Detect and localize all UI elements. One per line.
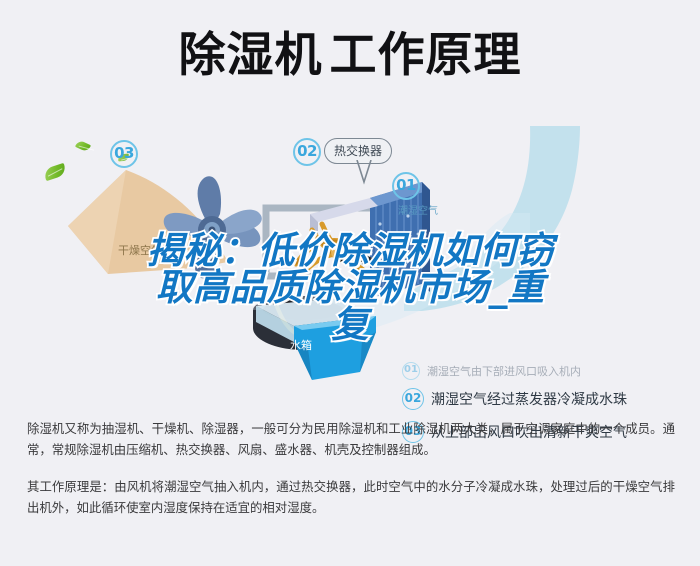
page-title-part1: 除湿机 [179,28,323,83]
diagram-badge-02: 02 [293,138,321,166]
step-item-01: 01 潮湿空气由下部进风口吸入机内 [402,360,698,382]
water-tank-icon [250,296,400,386]
leaf-icon [75,139,91,152]
body-paragraph-2: 其工作原理是：由风机将潮湿空气抽入机内，通过热交换器，此时空气中的水分子冷凝成水… [27,476,675,518]
leaf-icon [43,163,68,181]
dehumidifier-diagram: 干燥空气 [0,118,700,408]
page-title: 除湿机工作原理 [0,28,700,84]
humid-air-label: 潮湿空气 [398,202,438,217]
step-badge-01: 01 [402,362,420,380]
article-page: 除湿机工作原理 干燥空气 [0,0,700,566]
step-badge-02: 02 [402,388,424,410]
page-title-part2: 工作原理 [330,28,522,83]
body-paragraph-1: 除湿机又称为抽湿机、干燥机、除湿器，一般可分为民用除湿机和工业除湿机两大类，属于… [27,418,675,460]
step-text-02: 潮湿空气经过蒸发器冷凝成水珠 [431,389,627,409]
diagram-badge-01: 01 [392,172,420,200]
water-tank-label: 水箱 [290,337,312,353]
humid-air-label-secondary: 潮湿空气 [352,254,388,267]
step-text-01: 潮湿空气由下部进风口吸入机内 [427,363,581,379]
callout-tail-icon [355,160,373,186]
diagram-badge-03: 03 [110,140,138,168]
page-title-text: 除湿机工作原理 [179,28,522,84]
article-body: 除湿机又称为抽湿机、干燥机、除湿器，一般可分为民用除湿机和工业除湿机两大类，属于… [27,418,675,518]
step-item-02: 02 潮湿空气经过蒸发器冷凝成水珠 [402,382,698,415]
